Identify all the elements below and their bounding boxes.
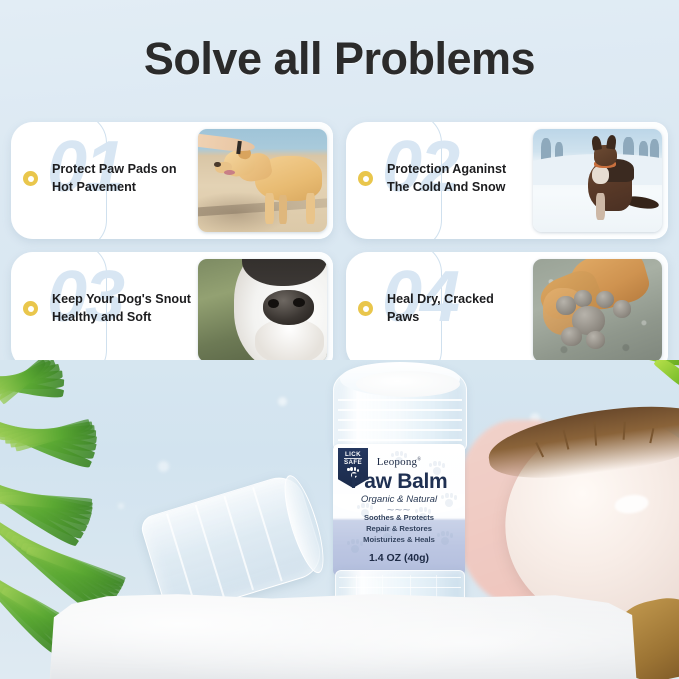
product-infographic: Solve all Problems 01 Protect Paw Pads o… [0, 0, 679, 679]
registered-mark: ® [417, 457, 421, 462]
feature-photo-dog-snout [198, 259, 327, 362]
net-weight: 1.4 OZ (40g) [333, 552, 465, 564]
dot-bullet-icon [23, 301, 38, 316]
dot-bullet-icon [358, 301, 373, 316]
feature-card-04[interactable]: 04 Heal Dry, Cracked Paws [346, 252, 668, 369]
feature-photo-cracked-paw [533, 259, 662, 362]
feature-photo-snow-dog [533, 129, 662, 232]
claim-item: Moisturizes & Heals [333, 535, 465, 546]
feature-text: Protect Paw Pads on Hot Pavement [52, 161, 197, 197]
brand-name: Leopong® [333, 456, 465, 468]
feature-card-02[interactable]: 02 Protection Aganinst The Cold And Snow [346, 122, 668, 239]
feature-text: Keep Your Dog's Snout Healthy and Soft [52, 291, 197, 327]
product-claims: Soothes & Protects Repair & Restores Moi… [333, 513, 465, 545]
feature-card-03[interactable]: 03 Keep Your Dog's Snout Healthy and Sof… [11, 252, 333, 369]
page-title: Solve all Problems [0, 33, 679, 85]
feature-photo-golden-dog [198, 129, 327, 232]
product-label: LICK SAFE Leopong® Paw Balm Organic & [333, 444, 465, 576]
feature-text: Heal Dry, Cracked Paws [387, 291, 532, 327]
product-hero-scene: LICK SAFE Leopong® Paw Balm Organic & [0, 360, 679, 679]
paw-balm-product-bottle: LICK SAFE Leopong® Paw Balm Organic & [325, 364, 473, 626]
feature-card-01[interactable]: 01 Protect Paw Pads on Hot Pavement [11, 122, 333, 239]
stone-slab-podium [48, 593, 638, 679]
feature-card-grid: 01 Protect Paw Pads on Hot Pavement 02 P… [11, 122, 668, 369]
claim-item: Soothes & Protects [333, 513, 465, 524]
feature-text: Protection Aganinst The Cold And Snow [387, 161, 532, 197]
bokeh-particle [278, 397, 287, 406]
claim-item: Repair & Restores [333, 524, 465, 535]
dot-bullet-icon [358, 171, 373, 186]
product-name: Paw Balm [333, 470, 465, 494]
balm-surface [356, 371, 460, 397]
product-subtitle: Organic & Natural [333, 494, 465, 505]
bottle-clear-top [333, 364, 467, 452]
dot-bullet-icon [23, 171, 38, 186]
brand-text: Leopong [377, 456, 418, 468]
